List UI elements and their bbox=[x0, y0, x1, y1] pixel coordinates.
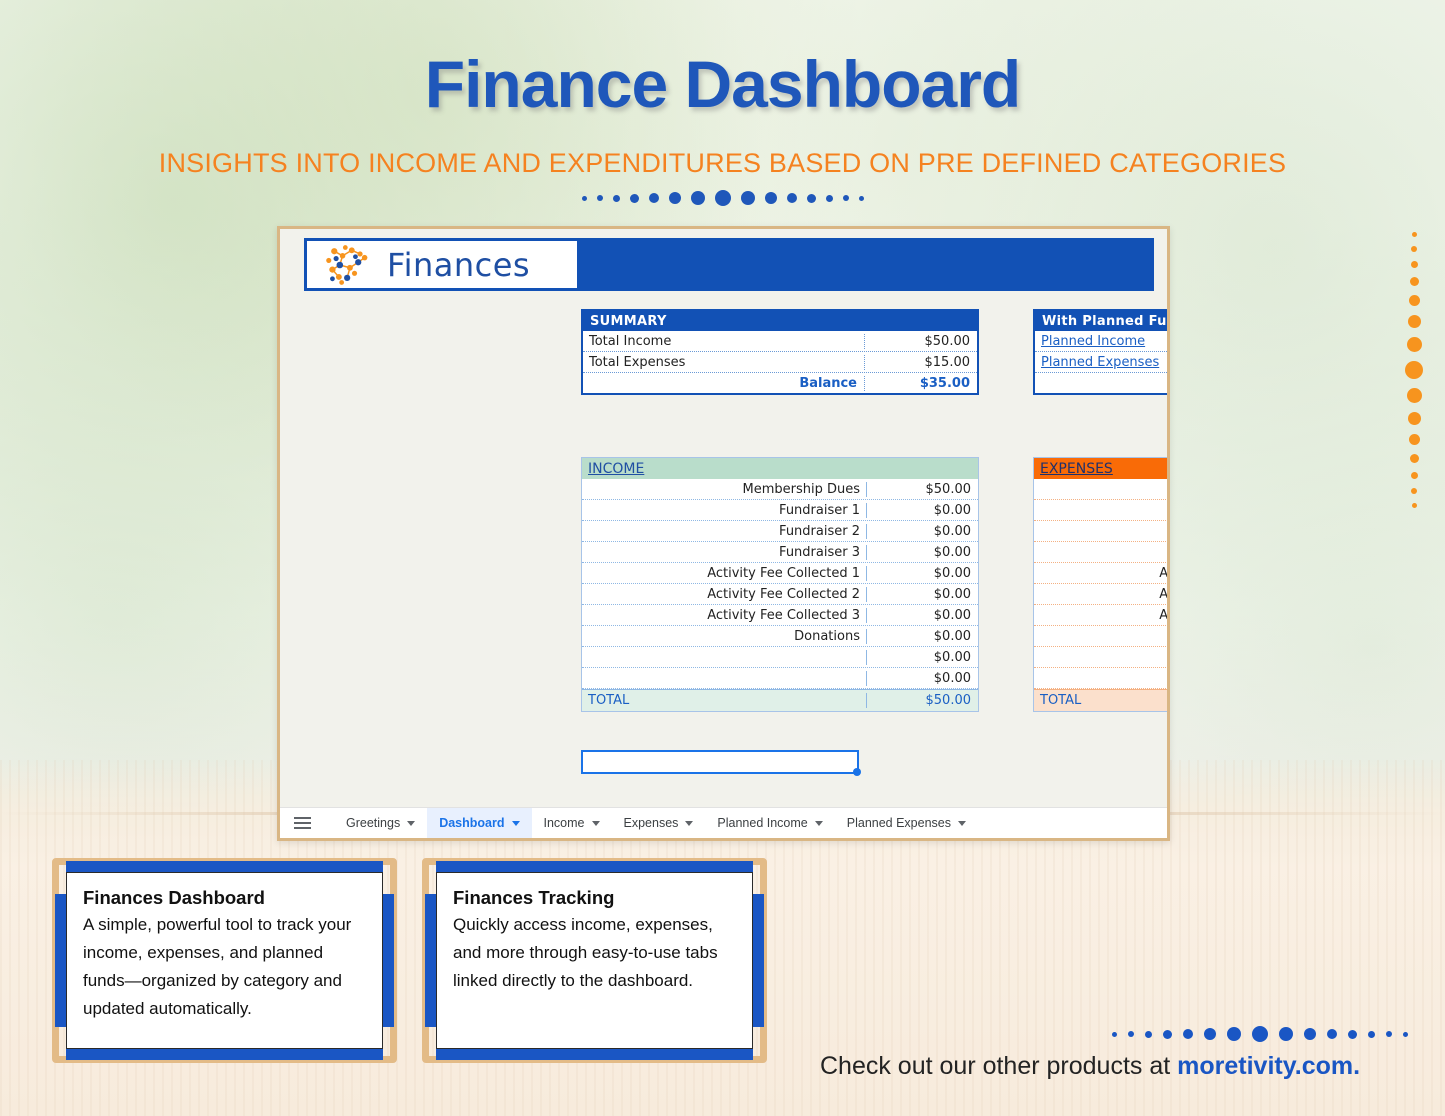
row-label: Fundraiser 2 bbox=[582, 524, 866, 539]
expenses-table-header: EXPENSES bbox=[1034, 458, 1167, 479]
decorative-dot bbox=[1386, 1031, 1392, 1037]
card-blue-top-bar bbox=[66, 861, 383, 872]
sheet-tab-label: Expenses bbox=[624, 816, 679, 830]
decorative-dot bbox=[1407, 388, 1422, 403]
income-total-value: $50.00 bbox=[866, 693, 978, 708]
decorative-dot bbox=[649, 193, 659, 203]
card-blue-bottom-bar bbox=[66, 1049, 383, 1060]
info-card-dashboard: Finances Dashboard A simple, powerful to… bbox=[52, 858, 397, 1063]
row-value: $0.00 bbox=[866, 629, 978, 644]
all-sheets-hamburger-icon[interactable] bbox=[294, 817, 324, 829]
row-value: $0.00 bbox=[866, 566, 978, 581]
row-label: Fundraiser 1 bbox=[582, 503, 866, 518]
income-table-header: INCOME bbox=[582, 458, 978, 479]
chevron-down-icon[interactable] bbox=[407, 821, 415, 826]
summary-total-row[interactable]: Balance $35.00 bbox=[583, 373, 977, 394]
sheet-tab-planned-expenses[interactable]: Planned Expenses bbox=[835, 808, 978, 839]
decorative-dot bbox=[1304, 1028, 1316, 1040]
decorative-dot bbox=[1412, 232, 1417, 237]
row-label: Fundraiser 1 bbox=[1034, 503, 1167, 518]
decorative-dot bbox=[859, 196, 864, 201]
row-label: Membership Dues bbox=[582, 482, 866, 497]
decorative-dot bbox=[691, 191, 705, 205]
summary-value: $50.00 bbox=[865, 334, 977, 349]
page-subtitle: INSIGHTS INTO INCOME AND EXPENDITURES BA… bbox=[0, 148, 1445, 179]
table-row[interactable]: $0.00 bbox=[582, 647, 978, 668]
decorative-dot bbox=[787, 193, 797, 203]
footer-brand-link[interactable]: moretivity.com. bbox=[1177, 1052, 1360, 1080]
chevron-down-icon[interactable] bbox=[512, 821, 520, 826]
expenses-table: EXPENSES Member Supplies$0.00Fundraiser … bbox=[1033, 457, 1167, 712]
table-row[interactable]: Activity Fee Collected 1$0.00 bbox=[582, 563, 978, 584]
chevron-down-icon[interactable] bbox=[958, 821, 966, 826]
summary-value: $15.00 bbox=[865, 355, 977, 370]
sheet-tab-dashboard[interactable]: Dashboard bbox=[427, 808, 531, 839]
card-blue-right-bar bbox=[753, 894, 764, 1027]
selected-cell[interactable] bbox=[581, 750, 859, 774]
summary-total-label: Balance bbox=[583, 376, 865, 391]
summary-label: Total Expenses bbox=[583, 355, 865, 370]
table-row[interactable]: Activity Fee Collected 3$0.00 bbox=[582, 605, 978, 626]
sheet-tab-label: Dashboard bbox=[439, 816, 504, 830]
table-row[interactable]: Misc. Expenses$0.00 bbox=[1034, 626, 1167, 647]
table-row[interactable]: $0.00 bbox=[582, 668, 978, 689]
planned-expenses-link[interactable]: Planned Expenses bbox=[1035, 355, 1167, 370]
table-row[interactable]: Activity Fee Collected 3$0.00 bbox=[1034, 605, 1167, 626]
decorative-dot bbox=[669, 192, 681, 204]
decorative-dot bbox=[1411, 488, 1417, 494]
summary-total-value: $35.00 bbox=[865, 376, 977, 391]
table-row[interactable]: Total Expenses $15.00 bbox=[583, 352, 977, 373]
table-row[interactable]: Planned Expenses $150.00 bbox=[1035, 352, 1167, 373]
decorative-dot bbox=[1403, 1032, 1408, 1037]
sheet-tab-planned-income[interactable]: Planned Income bbox=[705, 808, 834, 839]
summary-heading: SUMMARY bbox=[583, 311, 977, 331]
decorative-dot bbox=[1408, 315, 1421, 328]
decorative-dot bbox=[843, 195, 849, 201]
table-row[interactable]: Member Supplies$0.00 bbox=[1034, 479, 1167, 500]
planned-heading: With Planned Funds bbox=[1035, 311, 1167, 331]
table-row[interactable]: Fundraiser 2$0.00 bbox=[1034, 521, 1167, 542]
row-label: Activity Fee Collected 1 bbox=[582, 566, 866, 581]
plus-minus-label: +/- bbox=[1035, 376, 1167, 392]
chevron-down-icon[interactable] bbox=[685, 821, 693, 826]
decorative-dot bbox=[1348, 1030, 1357, 1039]
decorative-dot bbox=[1409, 295, 1420, 306]
expenses-total-row: TOTAL $15.00 bbox=[1034, 689, 1167, 711]
cell-fill-handle[interactable] bbox=[853, 768, 861, 776]
decorative-dot bbox=[1204, 1028, 1216, 1040]
table-row[interactable]: Fundraiser 3$0.00 bbox=[582, 542, 978, 563]
decorative-dot bbox=[1252, 1026, 1268, 1042]
table-row[interactable]: Donations$0.00 bbox=[582, 626, 978, 647]
sheet-tab-label: Planned Income bbox=[717, 816, 807, 830]
decorative-dot bbox=[1410, 454, 1419, 463]
page-title: Finance Dashboard bbox=[0, 46, 1445, 122]
income-heading: INCOME bbox=[582, 461, 866, 477]
row-label: Activity Fee Collected 2 bbox=[1034, 587, 1167, 602]
decorative-dot bbox=[1405, 361, 1423, 379]
card-title: Finances Dashboard bbox=[83, 887, 366, 909]
decorative-dot bbox=[1183, 1029, 1193, 1039]
header-dot-decoration bbox=[582, 190, 864, 206]
network-dots-icon bbox=[321, 242, 377, 288]
table-row[interactable]: Fundraiser 1$0.00 bbox=[1034, 500, 1167, 521]
decorative-dot bbox=[1409, 434, 1420, 445]
decorative-dot bbox=[630, 194, 639, 203]
row-value: $0.00 bbox=[866, 650, 978, 665]
income-total-label: TOTAL bbox=[582, 693, 866, 708]
card-blue-right-bar bbox=[383, 894, 394, 1027]
table-row[interactable]: Fundraiser 1$0.00 bbox=[582, 500, 978, 521]
income-table: INCOME Membership Dues$50.00Fundraiser 1… bbox=[581, 457, 979, 712]
sheet-tab-greetings[interactable]: Greetings bbox=[334, 808, 427, 839]
decorative-dot bbox=[613, 195, 620, 202]
row-value: $0.00 bbox=[866, 671, 978, 686]
row-value: $50.00 bbox=[866, 482, 978, 497]
row-label: Fundraiser 3 bbox=[582, 545, 866, 560]
decorative-dot bbox=[1411, 246, 1417, 252]
card-blue-top-bar bbox=[436, 861, 753, 872]
card-text: A simple, powerful tool to track your in… bbox=[83, 911, 366, 1023]
decorative-dot bbox=[1407, 337, 1422, 352]
sheet-tab-label: Greetings bbox=[346, 816, 400, 830]
table-row[interactable]: $0.00 bbox=[1034, 668, 1167, 689]
expenses-total-label: TOTAL bbox=[1034, 693, 1167, 708]
row-label: Activity Fee Collected 3 bbox=[582, 608, 866, 623]
table-row[interactable]: Total Income $50.00 bbox=[583, 331, 977, 352]
row-label: Activity Fee Collected 3 bbox=[1034, 608, 1167, 623]
row-label: Fundraiser 2 bbox=[1034, 524, 1167, 539]
decorative-dot bbox=[1112, 1032, 1117, 1037]
row-value: $0.00 bbox=[866, 608, 978, 623]
card-blue-left-bar bbox=[55, 894, 66, 1027]
decorative-dot bbox=[1411, 472, 1418, 479]
decorative-dot bbox=[1408, 412, 1421, 425]
footer-cta: Check out our other products at moretivi… bbox=[820, 1052, 1360, 1081]
decorative-dot bbox=[715, 190, 731, 206]
table-row[interactable]: Membership Dues$50.00 bbox=[582, 479, 978, 500]
decorative-dot bbox=[1227, 1027, 1241, 1041]
chevron-down-icon[interactable] bbox=[815, 821, 823, 826]
sheet-tab-label: Planned Expenses bbox=[847, 816, 951, 830]
decorative-dot bbox=[741, 191, 755, 205]
card-blue-left-bar bbox=[425, 894, 436, 1027]
row-label: Member Supplies bbox=[1034, 482, 1167, 497]
decorative-dot bbox=[807, 194, 816, 203]
planned-funds-card: With Planned Funds Planned Income $400.0… bbox=[1033, 309, 1167, 395]
row-value: $0.00 bbox=[866, 503, 978, 518]
table-row[interactable]: Fundraiser 3$0.00 bbox=[1034, 542, 1167, 563]
decorative-dot bbox=[1411, 261, 1418, 268]
card-blue-bottom-bar bbox=[436, 1049, 753, 1060]
side-dot-decoration bbox=[1405, 232, 1423, 508]
info-card-tracking: Finances Tracking Quickly access income,… bbox=[422, 858, 767, 1063]
decorative-dot bbox=[1410, 277, 1419, 286]
income-total-row: TOTAL $50.00 bbox=[582, 689, 978, 711]
decorative-dot bbox=[1128, 1031, 1134, 1037]
planned-income-link[interactable]: Planned Income bbox=[1035, 334, 1167, 349]
decorative-dot bbox=[1279, 1027, 1293, 1041]
table-row[interactable]: Activity Fee Collected 1$15.00 bbox=[1034, 563, 1167, 584]
card-text: Quickly access income, expenses, and mor… bbox=[453, 911, 736, 995]
summary-card: SUMMARY Total Income $50.00 Total Expens… bbox=[581, 309, 979, 395]
expenses-heading: EXPENSES bbox=[1034, 461, 1167, 477]
table-row[interactable]: Activity Fee Collected 2$0.00 bbox=[582, 584, 978, 605]
row-label: Activity Fee Collected 2 bbox=[582, 587, 866, 602]
spreadsheet-panel: Finances SUMMARY Total Income $50.00 Tot… bbox=[277, 226, 1170, 841]
row-value: $0.00 bbox=[866, 545, 978, 560]
decorative-dot bbox=[1145, 1031, 1152, 1038]
sheet-brand-title: Finances bbox=[387, 246, 530, 284]
table-row[interactable]: Planned Income $400.00 bbox=[1035, 331, 1167, 352]
row-label: Activity Fee Collected 1 bbox=[1034, 566, 1167, 581]
footer-dot-decoration bbox=[1112, 1026, 1408, 1042]
decorative-dot bbox=[582, 196, 587, 201]
sheet-brand-banner: Finances bbox=[304, 238, 1154, 291]
card-title: Finances Tracking bbox=[453, 887, 736, 909]
sheet-tab-income[interactable]: Income bbox=[532, 808, 612, 839]
decorative-dot bbox=[1163, 1030, 1172, 1039]
decorative-dot bbox=[1412, 503, 1417, 508]
row-value: $0.00 bbox=[866, 587, 978, 602]
decorative-dot bbox=[597, 195, 603, 201]
table-row[interactable]: Activity Fee Collected 2$0.00 bbox=[1034, 584, 1167, 605]
row-label: Donations bbox=[582, 629, 866, 644]
decorative-dot bbox=[765, 192, 777, 204]
decorative-dot bbox=[1327, 1029, 1337, 1039]
table-row[interactable]: Fundraiser 2$0.00 bbox=[582, 521, 978, 542]
sheet-tab-label: Income bbox=[544, 816, 585, 830]
sheet-tab-bar: GreetingsDashboardIncomeExpensesPlanned … bbox=[280, 807, 1167, 838]
footer-cta-text: Check out our other products at bbox=[820, 1052, 1177, 1080]
row-label: Fundraiser 3 bbox=[1034, 545, 1167, 560]
decorative-dot bbox=[1368, 1031, 1375, 1038]
row-label: Misc. Expenses bbox=[1034, 629, 1167, 644]
summary-label: Total Income bbox=[583, 334, 865, 349]
row-value: $0.00 bbox=[866, 524, 978, 539]
decorative-dot bbox=[826, 195, 833, 202]
chevron-down-icon[interactable] bbox=[592, 821, 600, 826]
table-row[interactable]: $0.00 bbox=[1034, 647, 1167, 668]
sheet-tab-expenses[interactable]: Expenses bbox=[612, 808, 706, 839]
planned-total-row[interactable]: +/- $285.00 bbox=[1035, 373, 1167, 394]
